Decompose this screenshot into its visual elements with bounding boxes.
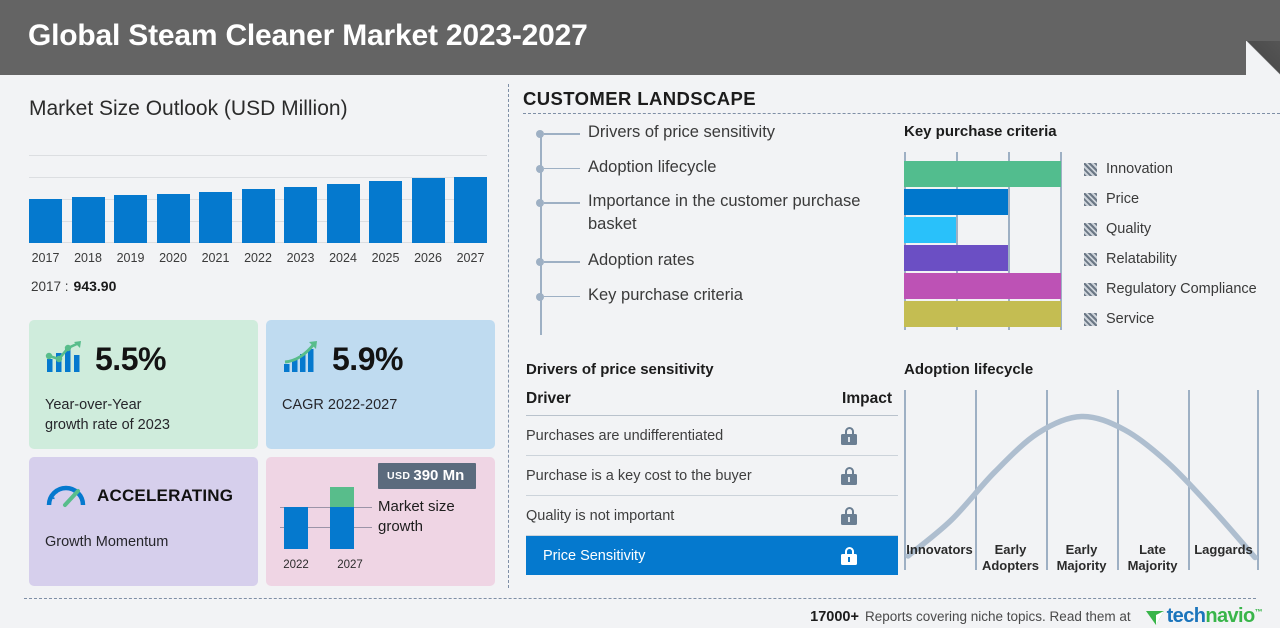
- landscape-list-item[interactable]: Adoption rates: [530, 249, 900, 272]
- lock-icon: [841, 507, 857, 525]
- cagr-label: CAGR 2022-2027: [282, 396, 479, 416]
- bar-column: [412, 177, 445, 243]
- kpc-bar: [904, 161, 1061, 187]
- bar: [454, 177, 487, 243]
- report-count: 17000+: [810, 609, 859, 625]
- bar-x-label: 2017: [29, 251, 62, 265]
- mini-chart-labels: 2022 2027: [280, 559, 372, 571]
- bar-line-growth-icon: [45, 340, 85, 379]
- bar: [284, 187, 317, 243]
- hatch-swatch-icon: [1084, 283, 1097, 296]
- bar: [199, 192, 232, 243]
- hatch-swatch-icon: [1084, 163, 1097, 176]
- kpc-title: Key purchase criteria: [904, 123, 1280, 140]
- landscape-item-label: Importance in the customer purchase bask…: [588, 190, 900, 235]
- bullet-connector: [544, 202, 580, 204]
- kpc-legend-label: Service: [1106, 311, 1154, 327]
- bar-column: [369, 177, 402, 243]
- driver-name: Quality is not important: [526, 508, 674, 524]
- bar-column: [284, 177, 317, 243]
- driver-name: Purchases are undifferentiated: [526, 428, 723, 444]
- section-underline: [523, 113, 1280, 114]
- kpc-legend-label: Quality: [1106, 221, 1151, 237]
- page-footer: 17000+ Reports covering niche topics. Re…: [0, 598, 1280, 624]
- bar: [72, 197, 105, 243]
- bar: [242, 189, 275, 243]
- first-year-label: 2017 :: [31, 279, 69, 294]
- landscape-list-item[interactable]: Adoption lifecycle: [530, 156, 900, 179]
- bar-column: [72, 177, 105, 243]
- kpc-legend-item: Regulatory Compliance: [1084, 274, 1257, 304]
- adoption-lifecycle-section: Adoption lifecycle InnovatorsEarlyAdopte…: [904, 361, 1280, 575]
- driver-row[interactable]: Price Sensitivity: [526, 536, 898, 575]
- driver-row[interactable]: Quality is not important: [526, 496, 898, 536]
- bullet-connector: [544, 261, 580, 263]
- bar: [327, 184, 360, 243]
- kpc-legend: InnovationPriceQualityRelatabilityRegula…: [1084, 152, 1257, 334]
- driver-row[interactable]: Purchases are undifferentiated: [526, 416, 898, 456]
- driver-name: Purchase is a key cost to the buyer: [526, 468, 752, 484]
- hatch-swatch-icon: [1084, 223, 1097, 236]
- market-growth-badge: USD390 Mn: [378, 463, 476, 489]
- bullet-dot-icon: [536, 199, 544, 207]
- kpc-bar-chart: [904, 152, 1064, 330]
- adoption-stage-labels: InnovatorsEarlyAdoptersEarlyMajorityLate…: [904, 542, 1259, 573]
- cagr-card: 5.9% CAGR 2022-2027: [266, 320, 495, 449]
- bar: [114, 195, 147, 243]
- kpc-legend-label: Regulatory Compliance: [1106, 281, 1257, 297]
- badge-value: 390 Mn: [413, 467, 464, 484]
- mini-year-start: 2022: [280, 559, 312, 571]
- bar-x-label: 2021: [199, 251, 232, 265]
- growth-momentum-card: ACCELERATING Growth Momentum: [29, 457, 258, 586]
- bar-column: [242, 177, 275, 243]
- market-growth-caption: Market size growth: [378, 497, 455, 536]
- adoption-stage-label: EarlyMajority: [1046, 542, 1117, 573]
- page-title: Global Steam Cleaner Market 2023-2027: [28, 19, 588, 53]
- bar-x-label: 2024: [327, 251, 360, 265]
- bar-x-label: 2018: [72, 251, 105, 265]
- lock-icon: [841, 467, 857, 485]
- kpc-legend-item: Price: [1084, 184, 1257, 214]
- bar-x-label: 2026: [412, 251, 445, 265]
- stat-card-grid: 5.5% Year-over-Year growth rate of 2023: [29, 320, 495, 594]
- yoy-growth-card: 5.5% Year-over-Year growth rate of 2023: [29, 320, 258, 449]
- bullet-dot-icon: [536, 293, 544, 301]
- kpc-legend-label: Innovation: [1106, 161, 1173, 177]
- adoption-stage-label: LateMajority: [1117, 542, 1188, 573]
- bar-x-label: 2027: [454, 251, 487, 265]
- kpc-legend-label: Price: [1106, 191, 1139, 207]
- landscape-item-label: Drivers of price sensitivity: [588, 121, 775, 144]
- mini-bar-series: [284, 485, 370, 549]
- first-year-amount: 943.90: [74, 278, 117, 294]
- landscape-item-label: Adoption lifecycle: [588, 156, 716, 179]
- bar-x-label: 2019: [114, 251, 147, 265]
- drivers-of-price-sensitivity-section: Drivers of price sensitivity Driver Impa…: [526, 361, 898, 575]
- kpc-bar: [904, 301, 1061, 327]
- bar-series: [29, 177, 487, 243]
- landscape-item-label: Key purchase criteria: [588, 284, 743, 307]
- column-driver: Driver: [526, 390, 571, 408]
- kpc-bar: [904, 273, 1061, 299]
- lock-icon: [841, 547, 857, 565]
- market-size-growth-card: 2022 2027 USD390 Mn Market size growth: [266, 457, 495, 586]
- bar-x-label: 2023: [284, 251, 317, 265]
- kpc-legend-label: Relatability: [1106, 251, 1177, 267]
- momentum-label: Growth Momentum: [45, 533, 242, 553]
- customer-landscape-panel: CUSTOMER LANDSCAPE Drivers of price sens…: [508, 75, 1280, 588]
- customer-landscape-list: Drivers of price sensitivityAdoption lif…: [530, 121, 900, 319]
- bar: [369, 181, 402, 243]
- bullet-dot-icon: [536, 130, 544, 138]
- adoption-stage-label: Laggards: [1188, 542, 1259, 573]
- kpc-legend-item: Relatability: [1084, 244, 1257, 274]
- kpc-bar: [904, 217, 956, 243]
- market-size-bar-chart: 2017201820192020202120222023202420252026…: [29, 155, 487, 265]
- adoption-title: Adoption lifecycle: [904, 361, 1280, 378]
- bar: [29, 199, 62, 243]
- landscape-item-label: Adoption rates: [588, 249, 694, 272]
- driver-row[interactable]: Purchase is a key cost to the buyer: [526, 456, 898, 496]
- momentum-status: ACCELERATING: [97, 486, 233, 506]
- bar-column: [29, 177, 62, 243]
- technavio-logo[interactable]: technavio™: [1145, 605, 1262, 628]
- bullet-dot-icon: [536, 165, 544, 173]
- market-size-title: Market Size Outlook (USD Million): [29, 97, 348, 121]
- bullet-connector: [544, 133, 580, 135]
- speedometer-icon: [45, 479, 87, 514]
- technavio-mark-icon: [1145, 608, 1165, 626]
- yoy-growth-label: Year-over-Year growth rate of 2023: [45, 396, 242, 435]
- bar-column: [157, 177, 190, 243]
- badge-currency: USD: [387, 470, 410, 482]
- cagr-value: 5.9%: [332, 341, 403, 378]
- kpc-bar-series: [904, 161, 1064, 329]
- bar-column: [199, 177, 232, 243]
- yoy-growth-value: 5.5%: [95, 341, 166, 378]
- lock-icon: [841, 427, 857, 445]
- bar-x-label: 2025: [369, 251, 402, 265]
- adoption-stage-label: Innovators: [904, 542, 975, 573]
- bar-column: [327, 177, 360, 243]
- driver-name: Price Sensitivity: [543, 548, 645, 564]
- bar-x-axis-labels: 2017201820192020202120222023202420252026…: [29, 251, 487, 265]
- landscape-list-item[interactable]: Drivers of price sensitivity: [530, 121, 900, 144]
- bullet-dot-icon: [536, 258, 544, 266]
- drivers-title: Drivers of price sensitivity: [526, 361, 898, 378]
- kpc-legend-item: Service: [1084, 304, 1257, 334]
- hatch-swatch-icon: [1084, 253, 1097, 266]
- adoption-lifecycle-chart: InnovatorsEarlyAdoptersEarlyMajorityLate…: [904, 390, 1259, 575]
- market-size-panel: Market Size Outlook (USD Million) 201720…: [0, 75, 508, 588]
- key-purchase-criteria-section: Key purchase criteria InnovationPriceQua…: [904, 123, 1280, 334]
- adoption-stage-label: EarlyAdopters: [975, 542, 1046, 573]
- bar-column: [114, 177, 147, 243]
- footer-text: Reports covering niche topics. Read them…: [865, 609, 1131, 624]
- kpc-legend-item: Quality: [1084, 214, 1257, 244]
- hatch-swatch-icon: [1084, 193, 1097, 206]
- bar-arrow-growth-icon: [282, 340, 322, 379]
- kpc-legend-item: Innovation: [1084, 154, 1257, 184]
- bar-x-label: 2020: [157, 251, 190, 265]
- kpc-bar: [904, 189, 1008, 215]
- bar-x-label: 2022: [242, 251, 275, 265]
- bar: [157, 194, 190, 243]
- corner-fold-decoration: [1246, 41, 1280, 75]
- customer-landscape-title: CUSTOMER LANDSCAPE: [523, 88, 756, 110]
- hatch-swatch-icon: [1084, 313, 1097, 326]
- drivers-table-header: Driver Impact: [526, 378, 898, 416]
- column-impact: Impact: [842, 390, 892, 408]
- first-year-value: 2017 :943.90: [31, 278, 116, 294]
- landscape-list-item[interactable]: Importance in the customer purchase bask…: [530, 190, 900, 235]
- bar: [412, 178, 445, 243]
- page-header: Global Steam Cleaner Market 2023-2027: [0, 0, 1280, 75]
- market-growth-mini-chart: 2022 2027: [280, 485, 372, 571]
- landscape-list-item[interactable]: Key purchase criteria: [530, 284, 900, 307]
- mini-year-end: 2027: [334, 559, 366, 571]
- bar-column: [454, 177, 487, 243]
- kpc-bar: [904, 245, 1008, 271]
- bullet-connector: [544, 296, 580, 298]
- bullet-connector: [544, 168, 580, 170]
